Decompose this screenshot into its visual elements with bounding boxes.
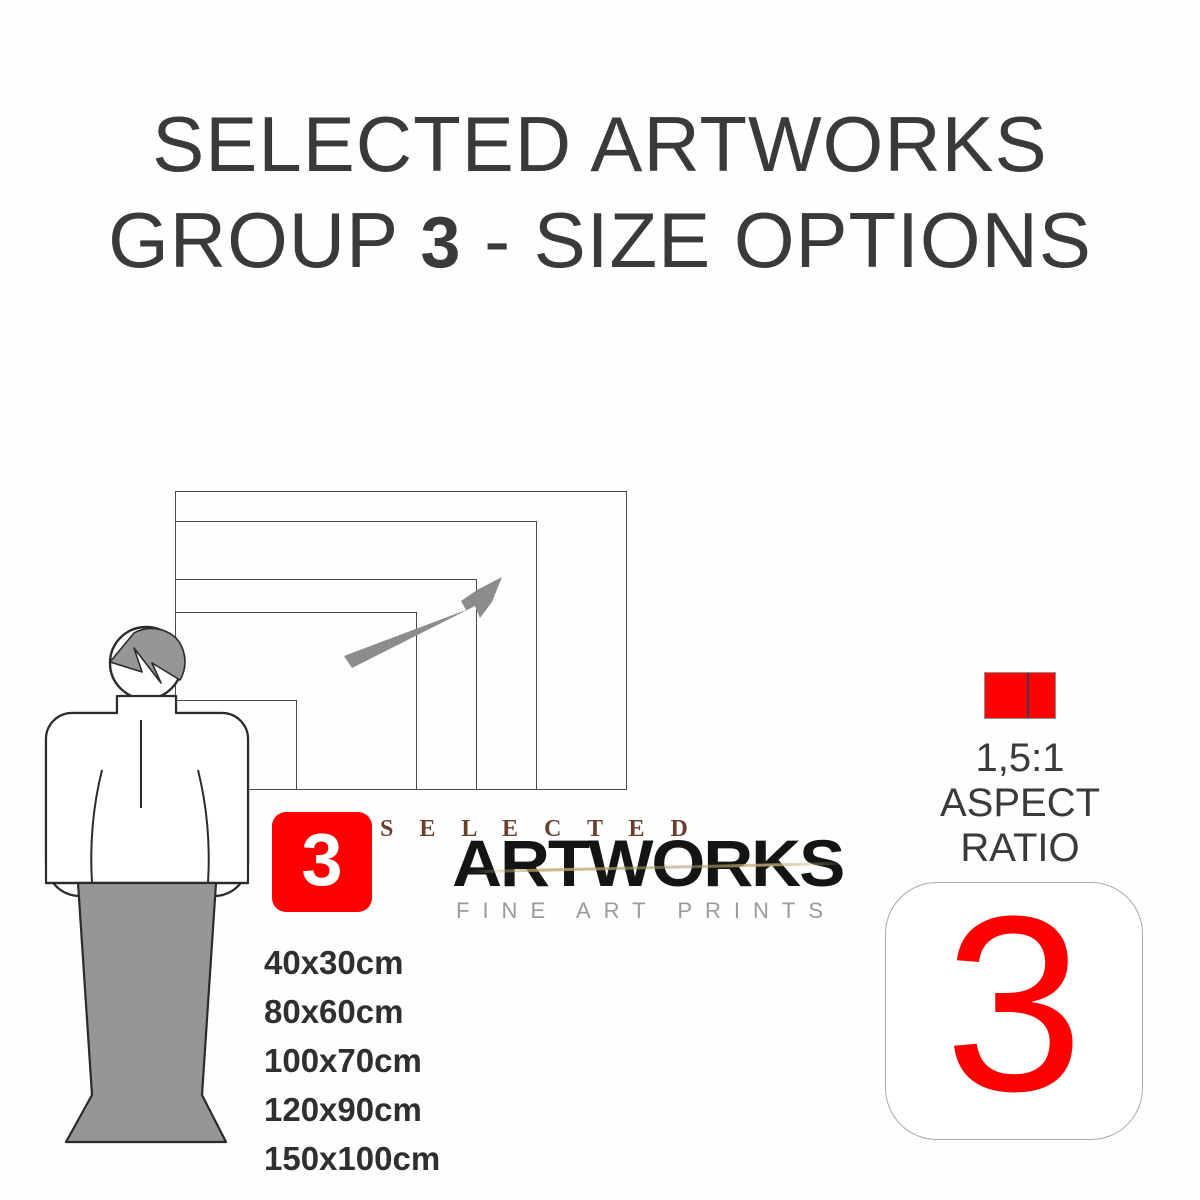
size-option-item: 40x30cm (264, 938, 604, 987)
growth-arrow-shape (344, 577, 502, 668)
size-options-list: 40x30cm 80x60cm 100x70cm 120x90cm 150x10… (264, 938, 604, 1183)
figure-torso (46, 696, 248, 883)
aspect-ratio-value: 1,5:1 (880, 736, 1160, 781)
page-title: SELECTED ARTWORKS GROUP 3 - SIZE OPTIONS (0, 96, 1200, 291)
size-option-item: 80x60cm (264, 987, 604, 1036)
poster-canvas: SELECTED ARTWORKS GROUP 3 - SIZE OPTIONS (0, 0, 1200, 1200)
size-option-item: 120x90cm (264, 1085, 604, 1134)
title-group-number: 3 (420, 203, 461, 283)
title-line-2-prefix: GROUP (108, 196, 420, 284)
logo-group-badge: 3 (272, 812, 372, 912)
title-line-2: GROUP 3 - SIZE OPTIONS (0, 192, 1200, 291)
figure-trousers (66, 883, 226, 1142)
growth-arrow (330, 560, 530, 690)
group-number-badge: 3 (885, 882, 1143, 1140)
logo-group-badge-number: 3 (301, 823, 342, 897)
brand-logo: 3 S E L E C T E D ARTWORKS FINE ART PRIN… (272, 810, 832, 928)
human-scale-figure (30, 600, 280, 1170)
size-option-item: 150x100cm (264, 1134, 604, 1183)
aspect-ratio-block: 1,5:1 ASPECT RATIO (880, 672, 1160, 871)
aspect-ratio-swatch (984, 672, 1056, 719)
size-option-item: 100x70cm (264, 1036, 604, 1085)
logo-tagline: FINE ART PRINTS (456, 898, 836, 924)
aspect-ratio-label-line1: ASPECT (880, 781, 1160, 826)
title-line-2-suffix: - SIZE OPTIONS (461, 196, 1091, 284)
group-number-badge-value: 3 (944, 879, 1083, 1129)
title-line-1: SELECTED ARTWORKS (0, 96, 1200, 192)
aspect-ratio-swatch-divider (1027, 673, 1029, 718)
